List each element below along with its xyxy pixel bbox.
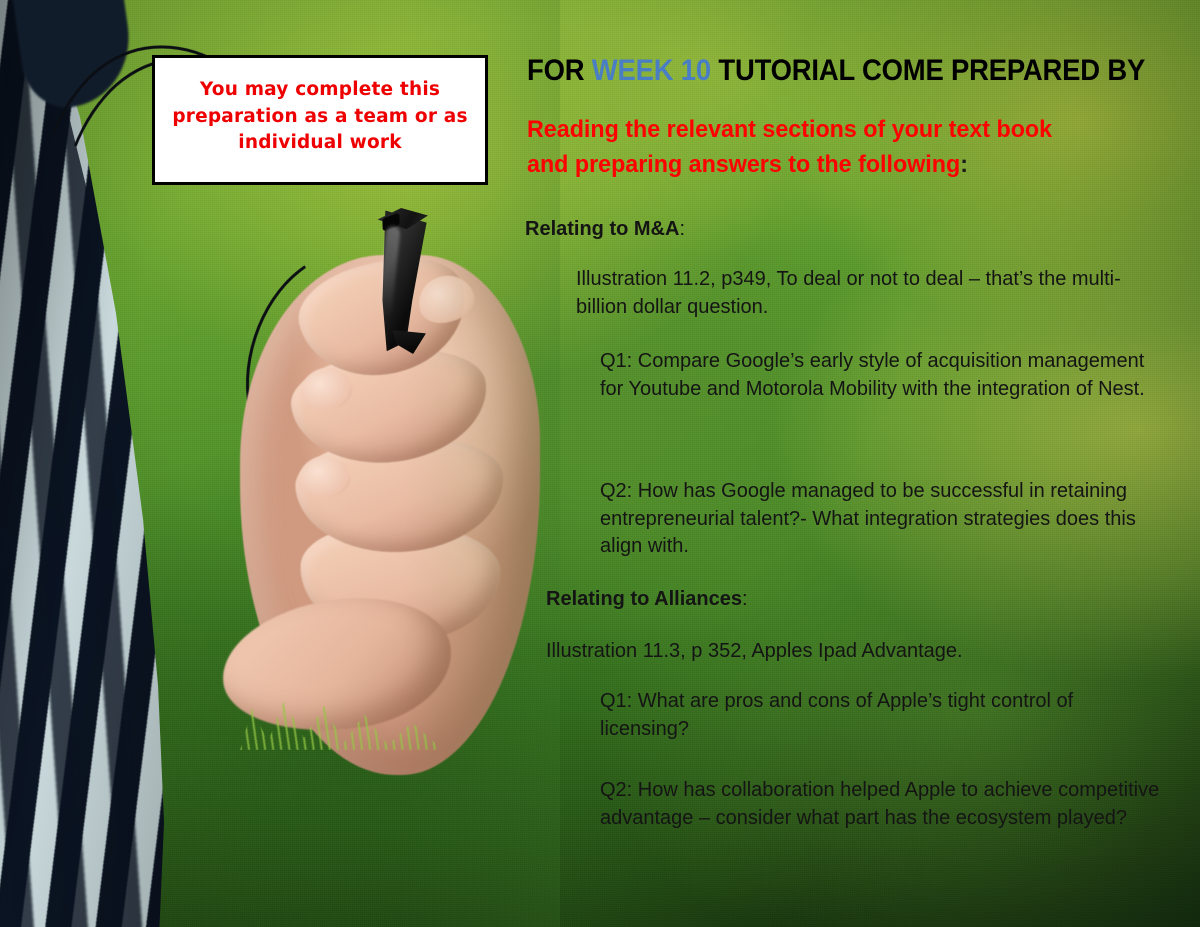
note-line-3: individual work	[238, 132, 401, 153]
title-prefix: FOR	[527, 54, 592, 87]
subtitle-line-1: Reading the relevant sections of your te…	[527, 116, 1052, 143]
subtitle-colon: :	[960, 151, 968, 178]
subtitle-line-2: and preparing answers to the following	[527, 151, 960, 178]
question-ma-q1: Q1: Compare Google’s early style of acqu…	[600, 348, 1160, 403]
question-alliances-q2: Q2: How has collaboration helped Apple t…	[600, 777, 1160, 832]
section-heading-alliances-colon: :	[742, 588, 748, 610]
section-heading-ma-colon: :	[679, 218, 685, 240]
illustration-alliances: Illustration 11.3, p 352, Apples Ipad Ad…	[546, 638, 1146, 666]
section-heading-alliances-text: Relating to Alliances	[546, 588, 742, 610]
note-callout-text: You may complete this preparation as a t…	[172, 77, 467, 157]
content-column: FOR WEEK 10 TUTORIAL COME PREPARED BY Re…	[520, 0, 1200, 927]
title-suffix: TUTORIAL COME PREPARED BY	[711, 54, 1145, 87]
note-line-2: preparation as a team or as	[172, 106, 467, 127]
section-heading-ma-text: Relating to M&A	[525, 218, 679, 240]
subtitle: Reading the relevant sections of your te…	[527, 112, 1154, 183]
slide-canvas: You may complete this preparation as a t…	[0, 0, 1200, 927]
question-ma-q2: Q2: How has Google managed to be success…	[600, 478, 1160, 561]
note-callout-box: You may complete this preparation as a t…	[152, 55, 488, 185]
section-heading-alliances: Relating to Alliances:	[546, 588, 748, 611]
note-line-1: You may complete this	[200, 79, 440, 100]
question-alliances-q1: Q1: What are pros and cons of Apple’s ti…	[600, 688, 1160, 743]
page-title: FOR WEEK 10 TUTORIAL COME PREPARED BY	[527, 54, 1145, 88]
illustration-ma: Illustration 11.2, p349, To deal or not …	[576, 266, 1156, 321]
title-week-highlight: WEEK 10	[592, 54, 711, 87]
section-heading-ma: Relating to M&A:	[525, 218, 685, 241]
